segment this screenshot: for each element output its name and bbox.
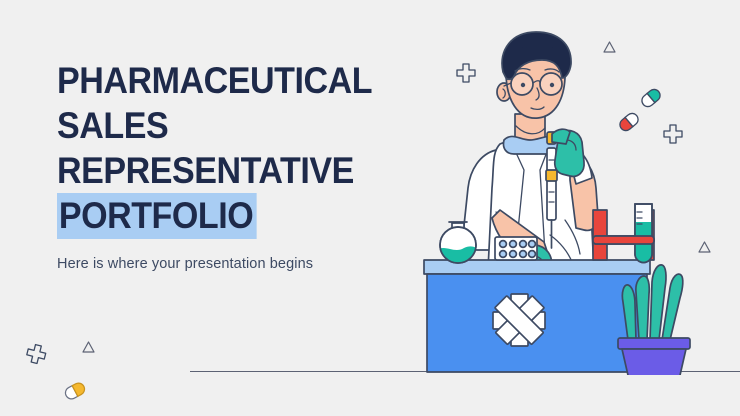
test-tube-rack [593,204,655,264]
title-line-2: SALES [57,103,370,148]
subtitle-text: Here is where your presentation begins [57,256,397,272]
cross-outline-top-left [455,63,477,85]
presentation-slide: PHARMACEUTICAL SALES REPRESENTATIVE PORT… [0,0,740,416]
title-line-4-highlighted: PORTFOLIO [57,193,370,238]
triangle-outline-bottom-left [82,341,95,353]
capsule-yellow [63,380,87,402]
title-block: PHARMACEUTICAL SALES REPRESENTATIVE PORT… [57,58,397,272]
highlighted-word: PORTFOLIO [57,193,257,239]
capsule-red [617,110,641,134]
capsule-teal [639,86,663,110]
triangle-outline-right [698,241,711,253]
triangle-outline-top [603,41,616,53]
title-line-3: REPRESENTATIVE [57,148,370,193]
cross-outline-bottom-left [24,343,48,367]
title-line-1: PHARMACEUTICAL [57,58,370,103]
asterisk-emblem [493,294,545,346]
cross-outline-right [662,124,684,146]
blister-pack [495,237,537,260]
glove-upper [552,129,584,176]
counter [424,260,650,372]
pharmacist-illustration: .ol { stroke:#3d4a63; stroke-width:1.7; … [400,20,740,375]
